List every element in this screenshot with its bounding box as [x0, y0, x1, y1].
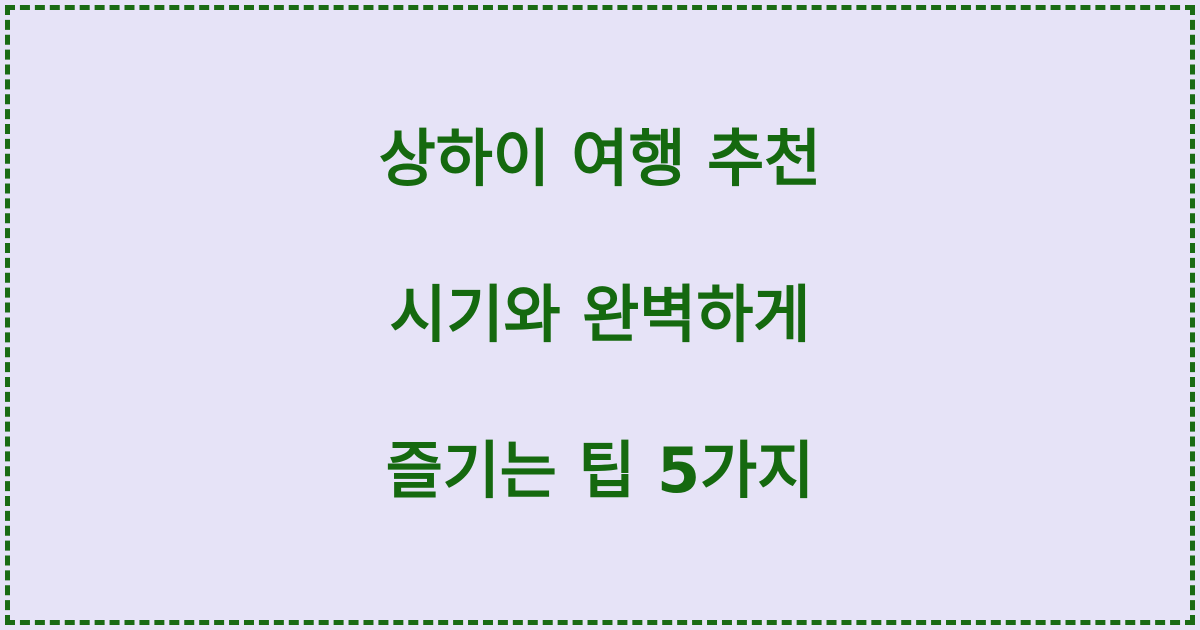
title-line-3: 즐기는 팁 5가지: [379, 432, 821, 510]
title-line-2: 시기와 완벽하게: [379, 276, 821, 354]
page-title: 상하이 여행 추천 시기와 완벽하게 즐기는 팁 5가지: [339, 42, 861, 588]
thumbnail-card: 상하이 여행 추천 시기와 완벽하게 즐기는 팁 5가지: [0, 0, 1200, 630]
title-line-1: 상하이 여행 추천: [379, 120, 821, 198]
